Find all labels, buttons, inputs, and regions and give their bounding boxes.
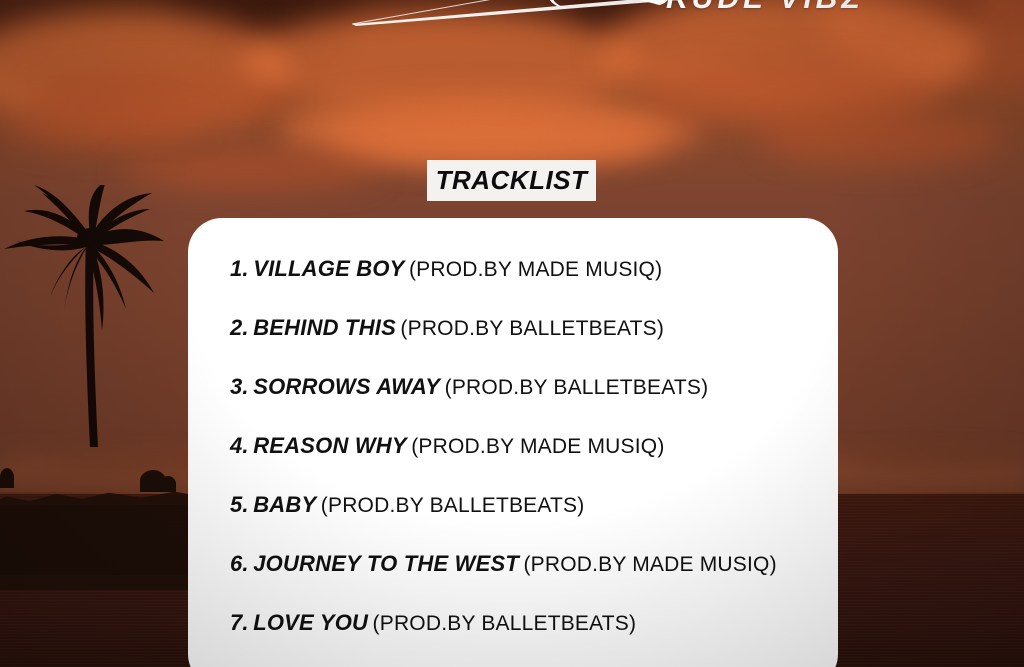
track-title: JOURNEY TO THE WEST <box>253 551 519 576</box>
track-credit: (PROD.BY MADE MUSIQ) <box>409 258 662 281</box>
track-number: 7. <box>230 610 249 635</box>
brand-logo-icon <box>545 0 675 18</box>
brand-name: RUDE VIBZ <box>666 0 864 16</box>
track-list: 1. VILLAGE BOY (PROD.BY MADE MUSIQ) 2. B… <box>188 254 838 667</box>
track-number: 1. <box>230 256 249 281</box>
tracklist-header-label: TRACKLIST <box>436 165 588 196</box>
track-credit: (PROD.BY BALLETBEATS) <box>321 494 585 517</box>
track-row: 7. LOVE YOU (PROD.BY BALLETBEATS) <box>188 608 838 667</box>
track-credit: (PROD.BY BALLETBEATS) <box>373 612 637 635</box>
palm-tree-icon <box>0 185 200 485</box>
cloud-shape <box>120 150 380 190</box>
cloud-shape <box>330 115 660 165</box>
track-number: 3. <box>230 374 249 399</box>
track-row: 4. REASON WHY (PROD.BY MADE MUSIQ) <box>188 431 838 490</box>
track-title: BABY <box>253 492 316 517</box>
cloud-shape <box>760 110 1000 165</box>
track-title: REASON WHY <box>253 433 407 458</box>
cloud-shape <box>240 10 640 120</box>
track-credit: (PROD.BY BALLETBEATS) <box>445 376 709 399</box>
track-number: 2. <box>230 315 249 340</box>
track-row: 2. BEHIND THIS (PROD.BY BALLETBEATS) <box>188 313 838 372</box>
track-number: 4. <box>230 433 249 458</box>
horizon-cloud <box>850 444 1024 470</box>
track-row: 6. JOURNEY TO THE WEST (PROD.BY MADE MUS… <box>188 549 838 608</box>
track-title: SORROWS AWAY <box>253 374 440 399</box>
cloud-shape <box>0 0 360 110</box>
cloud-shape <box>0 105 200 150</box>
track-credit: (PROD.BY BALLETBEATS) <box>400 317 664 340</box>
track-row: 1. VILLAGE BOY (PROD.BY MADE MUSIQ) <box>188 254 838 313</box>
track-title: LOVE YOU <box>253 610 368 635</box>
cloud-shape <box>30 70 290 130</box>
album-tracklist-poster: RUDE VIBZ TRACKLIST 1. VILLAGE BOY (PROD… <box>0 0 1024 667</box>
track-title: VILLAGE BOY <box>253 256 404 281</box>
cloud-shape <box>0 10 290 130</box>
track-row: 3. SORROWS AWAY (PROD.BY BALLETBEATS) <box>188 372 838 431</box>
track-row: 5. BABY (PROD.BY BALLETBEATS) <box>188 490 838 549</box>
tracklist-card: 1. VILLAGE BOY (PROD.BY MADE MUSIQ) 2. B… <box>188 218 838 667</box>
track-credit: (PROD.BY MADE MUSIQ) <box>411 435 664 458</box>
track-credit: (PROD.BY MADE MUSIQ) <box>523 553 776 576</box>
cloud-shape <box>280 95 700 165</box>
track-number: 6. <box>230 551 249 576</box>
track-title: BEHIND THIS <box>253 315 396 340</box>
tracklist-header-badge: TRACKLIST <box>427 160 596 201</box>
track-number: 5. <box>230 492 249 517</box>
cloud-shape <box>640 60 940 130</box>
